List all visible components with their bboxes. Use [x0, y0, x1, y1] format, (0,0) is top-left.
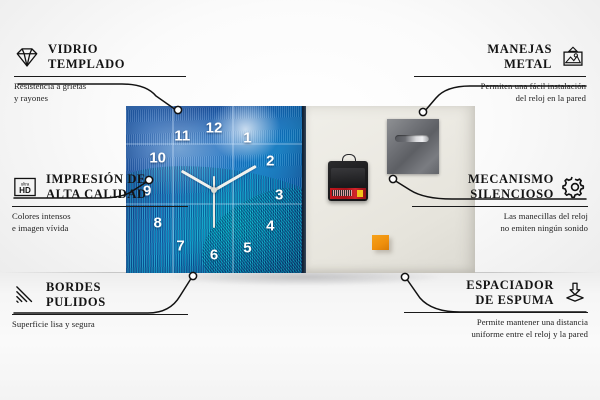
clock-numeral-2: 2 [266, 154, 274, 169]
feature-espaciador-espuma[interactable]: ESPACIADOR DE ESPUMA Permite mantener un… [404, 278, 588, 341]
feature-description: Superficie lisa y segura [12, 319, 188, 331]
feature-divider [414, 76, 586, 77]
polished-edge-icon [12, 283, 38, 307]
clock-numeral-3: 3 [275, 187, 283, 202]
feature-description: Las manecillas del reloj no emiten ningú… [412, 211, 588, 235]
feature-title-line1: MANEJAS [487, 42, 552, 57]
ultra-hd-icon: ultra HD [12, 175, 38, 199]
feature-vidrio-templado[interactable]: VIDRIO TEMPLADO Resistencia a grietas y … [14, 42, 186, 105]
feature-header: MECANISMO SILENCIOSO [412, 172, 588, 202]
mechanism-body [331, 168, 365, 186]
feature-desc-line2: y rayones [14, 93, 186, 105]
feature-title: IMPRESIÓN DE ALTA CALIDAD [46, 172, 147, 202]
feature-title-line2: SILENCIOSO [468, 187, 554, 202]
feature-title-line1: VIDRIO [48, 42, 125, 57]
feature-title: VIDRIO TEMPLADO [48, 42, 125, 72]
feature-divider [14, 76, 186, 77]
gear-icon [562, 175, 588, 199]
feature-header: ESPACIADOR DE ESPUMA [404, 278, 588, 308]
feature-mecanismo-silencioso[interactable]: MECANISMO SILENCIOSO Las manecillas del … [412, 172, 588, 235]
clock-numeral-4: 4 [266, 219, 274, 234]
feature-description: Colores intensos e imagen vívida [12, 211, 188, 235]
clock-numeral-1: 1 [243, 130, 251, 145]
metal-hanger-plate [387, 119, 439, 174]
feature-title-line1: IMPRESIÓN DE [46, 172, 147, 187]
clock-mechanism [328, 161, 368, 201]
infographic-canvas: 12 1 2 3 4 5 6 7 8 9 10 11 [0, 0, 600, 400]
feature-title: MECANISMO SILENCIOSO [468, 172, 554, 202]
clock-numeral-7: 7 [176, 239, 184, 254]
feature-desc-line2: e imagen vívida [12, 223, 188, 235]
feature-desc-line1: Superficie lisa y segura [12, 319, 188, 331]
foam-spacer [372, 235, 389, 250]
feature-title-line1: BORDES [46, 280, 106, 295]
glass-grid-line [232, 106, 234, 273]
feature-desc-line2: del reloj en la pared [414, 93, 586, 105]
feature-title: ESPACIADOR DE ESPUMA [466, 278, 554, 308]
glass-grid-line [126, 143, 302, 145]
feature-header: ultra HD IMPRESIÓN DE ALTA CALIDAD [12, 172, 188, 202]
clock-numeral-11: 11 [174, 129, 190, 144]
svg-text:HD: HD [19, 186, 31, 195]
feature-title: MANEJAS METAL [487, 42, 552, 72]
feature-title-line2: DE ESPUMA [466, 293, 554, 308]
feature-desc-line2: uniforme entre el reloj y la pared [404, 329, 588, 341]
feature-title: BORDES PULIDOS [46, 280, 106, 310]
feature-header: BORDES PULIDOS [12, 280, 188, 310]
feature-desc-line1: Permite mantener una distancia [404, 317, 588, 329]
clock-numeral-5: 5 [243, 240, 251, 255]
barcode [332, 190, 352, 196]
feature-description: Resistencia a grietas y rayones [14, 81, 186, 105]
feature-bordes-pulidos[interactable]: BORDES PULIDOS Superficie lisa y segura [12, 280, 188, 331]
feature-divider [404, 312, 588, 313]
feature-title-line2: PULIDOS [46, 295, 106, 310]
clock-numeral-12: 12 [206, 120, 223, 135]
hanger-slot [395, 135, 428, 142]
clock-numeral-6: 6 [210, 247, 218, 262]
feature-desc-line1: Resistencia a grietas [14, 81, 186, 93]
feature-header: VIDRIO TEMPLADO [14, 42, 186, 72]
feature-description: Permite mantener una distancia uniforme … [404, 317, 588, 341]
label-marker [357, 190, 363, 197]
framed-picture-hanger-icon [560, 45, 586, 69]
clock-center-cap [211, 187, 217, 193]
feature-title-line1: MECANISMO [468, 172, 554, 187]
feature-divider [12, 314, 188, 315]
feature-manejas-metal[interactable]: MANEJAS METAL Permiten una fácil instala… [414, 42, 586, 105]
feature-desc-line1: Permiten una fácil instalación [414, 81, 586, 93]
feature-desc-line2: no emiten ningún sonido [412, 223, 588, 235]
feature-title-line1: ESPACIADOR [466, 278, 554, 293]
feature-description: Permiten una fácil instalación del reloj… [414, 81, 586, 105]
clock-second-hand [213, 176, 215, 228]
feature-title-line2: METAL [487, 57, 552, 72]
feature-divider [12, 206, 188, 207]
feature-impresion-alta-calidad[interactable]: ultra HD IMPRESIÓN DE ALTA CALIDAD Color… [12, 172, 188, 235]
clock-numeral-10: 10 [149, 150, 166, 165]
feature-desc-line1: Colores intensos [12, 211, 188, 223]
mechanism-hook [342, 154, 355, 164]
feature-desc-line1: Las manecillas del reloj [412, 211, 588, 223]
diamond-icon [14, 45, 40, 69]
feature-header: MANEJAS METAL [414, 42, 586, 72]
feature-title-line2: TEMPLADO [48, 57, 125, 72]
mechanism-label [330, 188, 367, 199]
foam-spacer-arrow-icon [562, 281, 588, 305]
feature-title-line2: ALTA CALIDAD [46, 187, 147, 202]
feature-divider [412, 206, 588, 207]
